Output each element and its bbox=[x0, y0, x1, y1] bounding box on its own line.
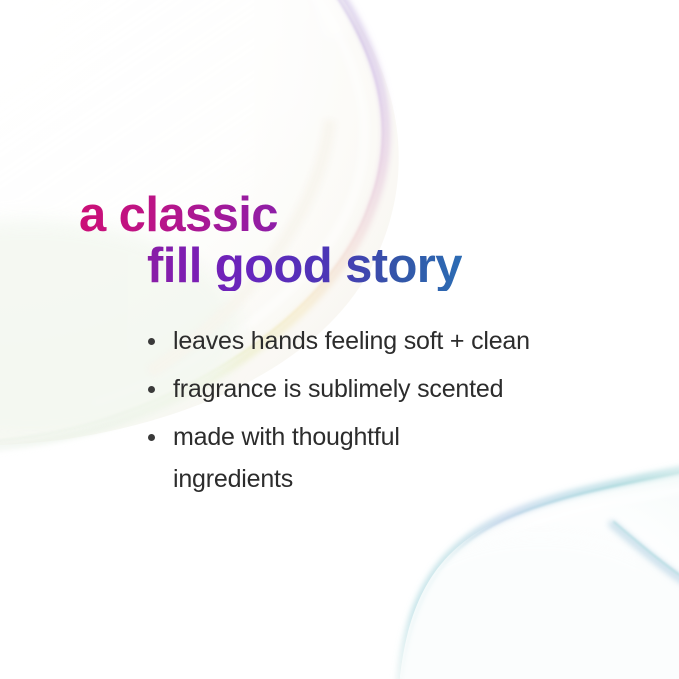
benefits-list: leaves hands feeling soft + clean fragra… bbox=[146, 320, 616, 500]
headline-line-1: a classic bbox=[79, 191, 278, 240]
copy-block: a classic fill good story leaves hands f… bbox=[0, 0, 679, 679]
list-item: made with thoughtful ingredients bbox=[146, 416, 616, 500]
bullet-dot-icon bbox=[148, 434, 155, 441]
headline-line-2: fill good story bbox=[147, 242, 462, 291]
list-item-label: fragrance is sublimely scented bbox=[173, 368, 616, 410]
list-item: leaves hands feeling soft + clean bbox=[146, 320, 616, 362]
list-item: fragrance is sublimely scented bbox=[146, 368, 616, 410]
list-item-label: made with thoughtful ingredients bbox=[173, 416, 473, 500]
list-item-label: leaves hands feeling soft + clean bbox=[173, 320, 616, 362]
product-feature-card: a classic fill good story leaves hands f… bbox=[0, 0, 679, 679]
bullet-dot-icon bbox=[148, 338, 155, 345]
bullet-dot-icon bbox=[148, 386, 155, 393]
